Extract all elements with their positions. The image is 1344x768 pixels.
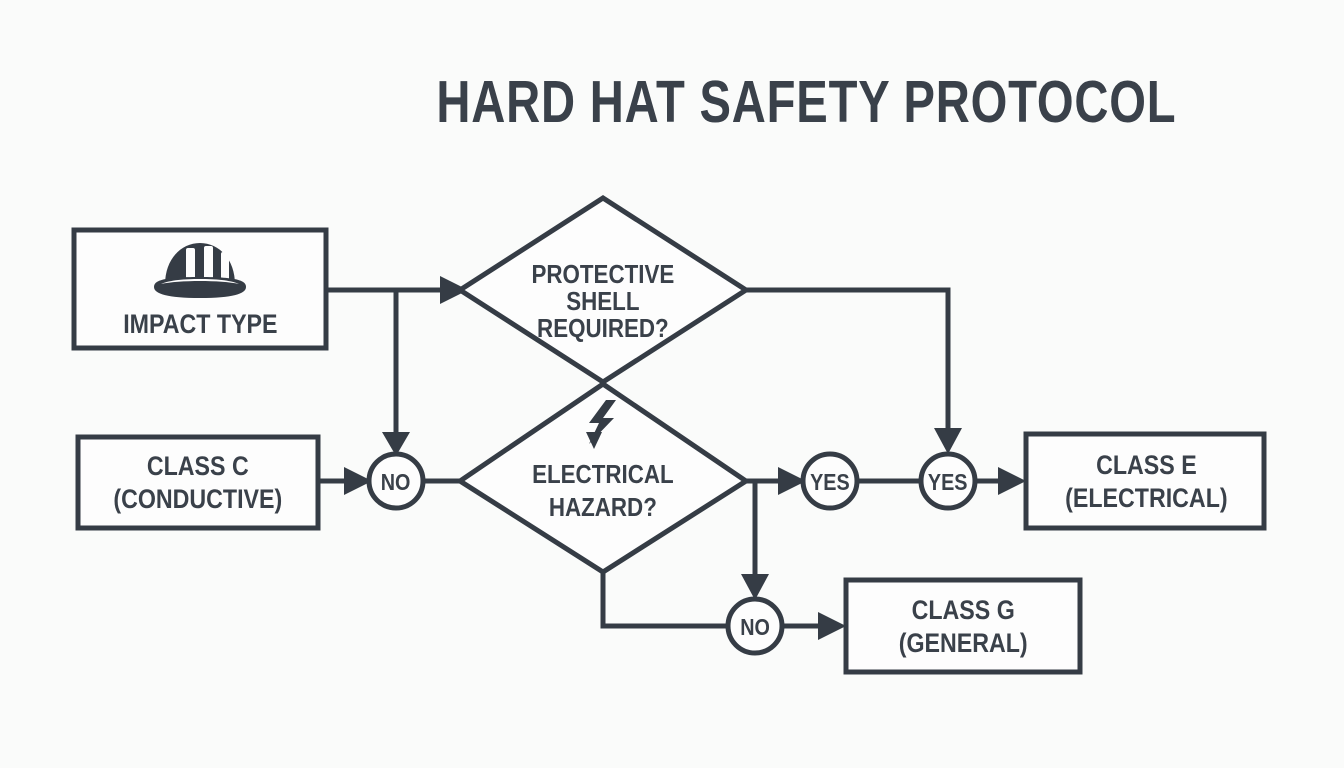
arrowhead-yes-outer-to-classe	[998, 467, 1026, 495]
node-protective-shell[interactable]: PROTECTIVE SHELL REQUIRED?	[460, 198, 746, 382]
class-e-line1: CLASS E	[1096, 450, 1197, 480]
electrical-hazard-line1: ELECTRICAL	[532, 460, 674, 489]
class-c-line1: CLASS C	[147, 451, 249, 481]
class-e-line2: (ELECTRICAL)	[1065, 483, 1227, 513]
node-class-c[interactable]: CLASS C (CONDUCTIVE)	[78, 437, 318, 528]
node-no-bottom[interactable]: NO	[728, 599, 782, 653]
class-e-box-fill	[1026, 434, 1264, 528]
node-class-e[interactable]: CLASS E (ELECTRICAL)	[1026, 434, 1264, 528]
edge-electrical-bottom-to-no-bottom	[603, 572, 728, 626]
arrowhead-electrical-to-no-bottom	[741, 574, 769, 600]
yes-inner-label: YES	[810, 470, 850, 496]
node-impact-type[interactable]: IMPACT TYPE	[74, 230, 326, 348]
page-title: HARD HAT SAFETY PROTOCOL	[436, 70, 1176, 135]
no-bottom-label: NO	[740, 615, 770, 641]
protective-shell-line2: SHELL	[566, 287, 639, 316]
node-electrical-hazard[interactable]: ELECTRICAL HAZARD?	[460, 384, 746, 572]
flowchart-canvas: HARD HAT SAFETY PROTOCOL	[0, 0, 1344, 768]
hard-hat-rib-center	[204, 246, 213, 282]
hard-hat-rib-left	[186, 248, 195, 282]
arrowhead-no-bottom-to-classg	[818, 612, 846, 640]
class-g-line1: CLASS G	[912, 595, 1015, 625]
node-yes-outer[interactable]: YES	[921, 454, 975, 508]
class-c-line2: (CONDUCTIVE)	[113, 484, 282, 514]
electrical-hazard-line2: HAZARD?	[549, 493, 657, 522]
edge-shell-to-yes-outer	[746, 290, 948, 432]
class-g-line2: (GENERAL)	[899, 628, 1028, 658]
arrowhead-shell-to-yes-outer	[934, 428, 962, 454]
protective-shell-line1: PROTECTIVE	[531, 260, 674, 289]
no-left-label: NO	[381, 470, 411, 496]
hard-hat-rib-right	[221, 252, 229, 282]
node-class-g[interactable]: CLASS G (GENERAL)	[846, 580, 1080, 672]
node-no-left[interactable]: NO	[369, 454, 423, 508]
node-yes-inner[interactable]: YES	[803, 454, 857, 508]
yes-outer-label: YES	[928, 470, 968, 496]
protective-shell-line3: REQUIRED?	[537, 314, 669, 343]
impact-type-label: IMPACT TYPE	[123, 309, 277, 339]
